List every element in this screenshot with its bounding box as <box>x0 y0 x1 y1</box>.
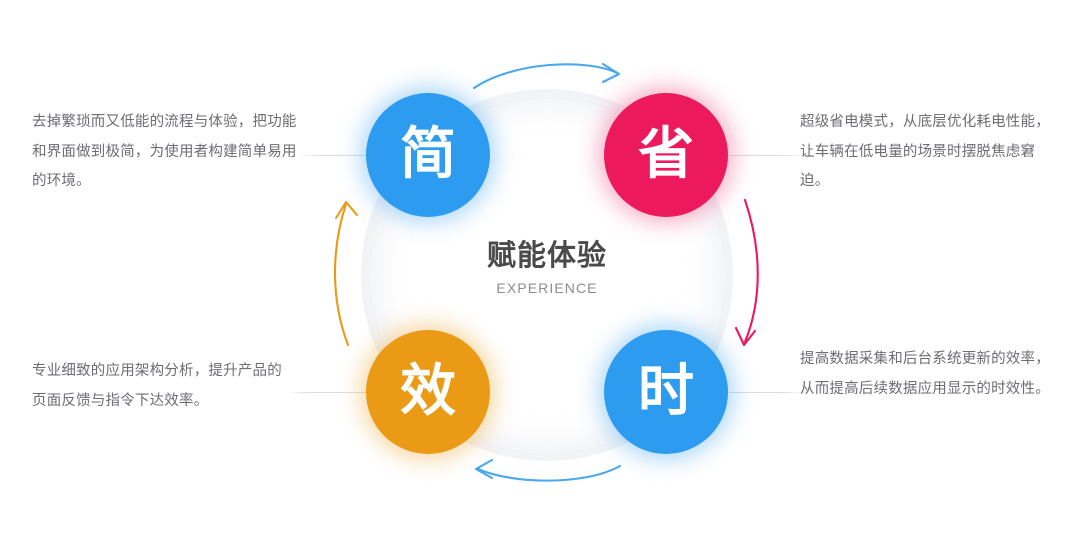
center-title-cn: 赋能体验 <box>361 240 733 273</box>
node-label-sheng: 省 <box>638 126 694 182</box>
diagram-canvas: 简 省 效 时 赋能体验 EXPERIENCE 去掉繁琐而又低能的流程与体验，把… <box>0 0 1082 548</box>
node-label-shi: 时 <box>638 363 694 419</box>
node-bubble-xiao[interactable]: 效 <box>366 330 490 454</box>
node-bubble-shi[interactable]: 时 <box>604 330 728 454</box>
arrow-bottom-icon <box>476 460 620 481</box>
center-title-en: EXPERIENCE <box>361 280 733 296</box>
arrow-right-icon <box>736 200 758 345</box>
node-bubble-sheng[interactable]: 省 <box>604 93 728 217</box>
arrow-left-icon <box>335 202 357 345</box>
description-bottom-left: 专业细致的应用架构分析，提升产品的页面反馈与指令下达效率。 <box>32 357 290 416</box>
node-bubble-jian[interactable]: 简 <box>366 93 490 217</box>
description-top-left: 去掉繁琐而又低能的流程与体验，把功能和界面做到极简，为使用者构建简单易用的环境。 <box>32 108 298 197</box>
node-label-jian: 简 <box>400 126 456 182</box>
description-top-right: 超级省电模式，从底层优化耗电性能，让车辆在低电量的场景时摆脱焦虑窘迫。 <box>800 108 1058 197</box>
arrow-top-icon <box>474 64 619 88</box>
center-label: 赋能体验 EXPERIENCE <box>361 240 733 296</box>
description-bottom-right: 提高数据采集和后台系统更新的效率，从而提高后续数据应用显示的时效性。 <box>800 345 1058 404</box>
node-label-xiao: 效 <box>400 363 456 419</box>
